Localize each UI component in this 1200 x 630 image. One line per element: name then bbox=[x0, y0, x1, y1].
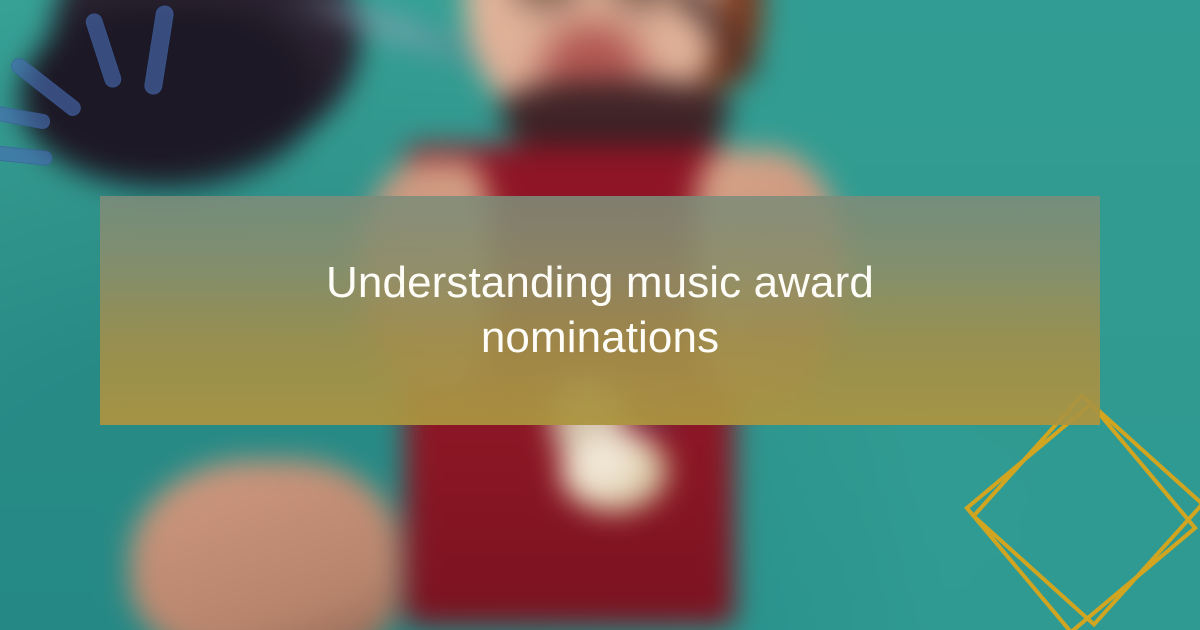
page-title: Understanding music award nominations bbox=[270, 256, 930, 364]
burst-ray-icon bbox=[143, 4, 175, 96]
award-medal-icon bbox=[560, 430, 668, 512]
gold-squares-decoration bbox=[950, 405, 1200, 630]
title-banner: Understanding music award nominations bbox=[100, 196, 1100, 425]
blue-burst-decoration bbox=[0, 0, 200, 170]
burst-ray-icon bbox=[0, 104, 51, 130]
subject-forearm bbox=[130, 460, 400, 630]
rotated-square-icon bbox=[964, 401, 1198, 630]
share-card-canvas: Understanding music award nominations bbox=[0, 0, 1200, 630]
burst-ray-icon bbox=[84, 11, 124, 89]
burst-ray-icon bbox=[0, 144, 53, 167]
